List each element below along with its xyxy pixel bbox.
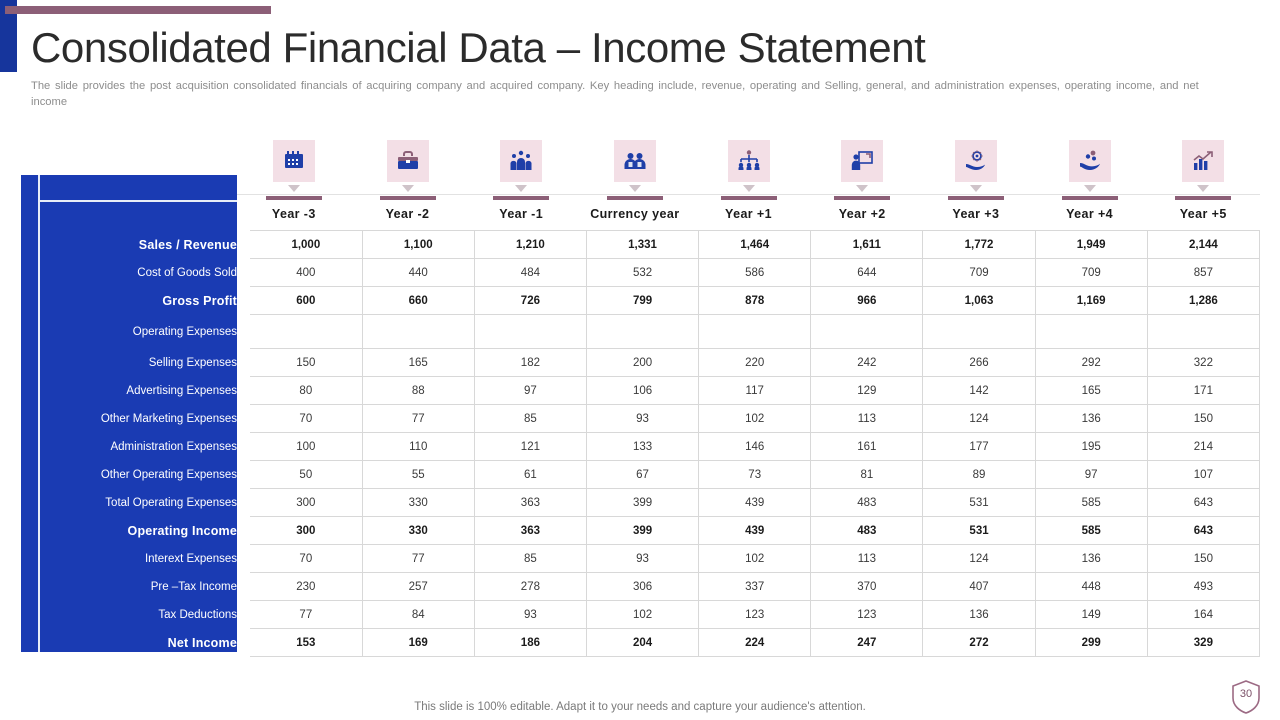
table-row: Advertising Expenses80889710611712914216…: [21, 377, 1260, 405]
column-tick-mark: [607, 196, 663, 200]
column-header-4[interactable]: Currency year: [578, 138, 692, 228]
chevron-down-icon: [1197, 185, 1209, 192]
team-group-icon: [500, 140, 542, 182]
column-tick-mark: [834, 196, 890, 200]
row-label: Other Marketing Expenses: [21, 405, 250, 433]
table-cell: 363: [474, 517, 586, 545]
row-label: Advertising Expenses: [21, 377, 250, 405]
table-cell: 153: [250, 629, 362, 657]
row-label: Interext Expenses: [21, 545, 250, 573]
column-header-label: Year +3: [952, 207, 999, 221]
table-cell: 337: [699, 573, 811, 601]
row-label: Net Income: [21, 629, 250, 657]
table-cell: 370: [811, 573, 923, 601]
column-tick-mark: [380, 196, 436, 200]
table-row: Operating Income300330363399439483531585…: [21, 517, 1260, 545]
row-label: Pre –Tax Income: [21, 573, 250, 601]
table-cell: 1,331: [586, 231, 698, 259]
chevron-down-icon: [1084, 185, 1096, 192]
table-cell: 169: [362, 629, 474, 657]
table-row: Pre –Tax Income2302572783063373704074484…: [21, 573, 1260, 601]
table-row: Gross Profit6006607267998789661,0631,169…: [21, 287, 1260, 315]
table-cell: 439: [699, 489, 811, 517]
table-cell: 102: [699, 405, 811, 433]
table-cell: 448: [1035, 573, 1147, 601]
table-cell: 106: [586, 377, 698, 405]
table-row: Administration Expenses10011012113314616…: [21, 433, 1260, 461]
table-cell: 224: [699, 629, 811, 657]
table-cell: 80: [250, 377, 362, 405]
table-cell: 85: [474, 545, 586, 573]
table-cell: 97: [474, 377, 586, 405]
table-cell: 531: [923, 517, 1035, 545]
table-cell: 220: [699, 349, 811, 377]
table-cell: 121: [474, 433, 586, 461]
table-cell: 1,464: [699, 231, 811, 259]
table-cell: 186: [474, 629, 586, 657]
table-cell: 363: [474, 489, 586, 517]
table-cell: 165: [1035, 377, 1147, 405]
table-cell: 123: [699, 601, 811, 629]
table-cell: 1,169: [1035, 287, 1147, 315]
column-header-label: Year -2: [386, 207, 430, 221]
column-tick-mark: [493, 196, 549, 200]
table-cell: [362, 315, 474, 349]
row-label: Gross Profit: [21, 287, 250, 315]
row-label: Sales / Revenue: [21, 231, 250, 259]
table-cell: 177: [923, 433, 1035, 461]
table-cell: 726: [474, 287, 586, 315]
column-tick-mark: [1062, 196, 1118, 200]
table-cell: 399: [586, 489, 698, 517]
row-label: Other Operating Expenses: [21, 461, 250, 489]
calendar-icon: [273, 140, 315, 182]
table-row: Other Operating Expenses5055616773818997…: [21, 461, 1260, 489]
table-cell: 440: [362, 259, 474, 287]
table-cell: 110: [362, 433, 474, 461]
table-cell: 586: [699, 259, 811, 287]
table-row: Net Income153169186204224247272299329: [21, 629, 1260, 657]
table-cell: 204: [586, 629, 698, 657]
table-cell: 77: [362, 405, 474, 433]
table-cell: 133: [586, 433, 698, 461]
table-cell: 878: [699, 287, 811, 315]
table-cell: 81: [811, 461, 923, 489]
table-cell: 709: [1035, 259, 1147, 287]
column-header-label: Year -3: [272, 207, 316, 221]
presenter-board-icon: [841, 140, 883, 182]
table-cell: 171: [1147, 377, 1259, 405]
table-row: Cost of Goods Sold4004404845325866447097…: [21, 259, 1260, 287]
table-cell: 585: [1035, 517, 1147, 545]
table-cell: 142: [923, 377, 1035, 405]
table-cell: 70: [250, 405, 362, 433]
chevron-down-icon: [743, 185, 755, 192]
table-cell: [699, 315, 811, 349]
table-cell: 966: [811, 287, 923, 315]
column-header-9[interactable]: Year +5: [1146, 138, 1260, 228]
row-label: Tax Deductions: [21, 601, 250, 629]
table-row: Selling Expenses150165182200220242266292…: [21, 349, 1260, 377]
column-header-1[interactable]: Year -3: [237, 138, 351, 228]
table-cell: 93: [586, 545, 698, 573]
table-cell: 660: [362, 287, 474, 315]
column-tick-mark: [721, 196, 777, 200]
table-row: Interext Expenses70778593102113124136150: [21, 545, 1260, 573]
hand-gear-icon: [955, 140, 997, 182]
table-cell: 214: [1147, 433, 1259, 461]
column-header-3[interactable]: Year -1: [464, 138, 578, 228]
table-cell: 55: [362, 461, 474, 489]
table-cell: 107: [1147, 461, 1259, 489]
table-cell: 123: [811, 601, 923, 629]
row-label: Cost of Goods Sold: [21, 259, 250, 287]
table-cell: 330: [362, 489, 474, 517]
table-row: Sales / Revenue1,0001,1001,2101,3311,464…: [21, 231, 1260, 259]
table-cell: 493: [1147, 573, 1259, 601]
table-cell: 257: [362, 573, 474, 601]
table-cell: 200: [586, 349, 698, 377]
chevron-down-icon: [288, 185, 300, 192]
column-header-label: Year -1: [499, 207, 543, 221]
table-cell: 93: [474, 601, 586, 629]
column-header-5[interactable]: Year +1: [692, 138, 806, 228]
chevron-down-icon: [515, 185, 527, 192]
table-cell: 709: [923, 259, 1035, 287]
table-cell: 278: [474, 573, 586, 601]
table-cell: 531: [923, 489, 1035, 517]
panel-horizontal-rule: [38, 200, 237, 202]
table-cell: 100: [250, 433, 362, 461]
table-row: Other Marketing Expenses7077859310211312…: [21, 405, 1260, 433]
table-cell: 300: [250, 517, 362, 545]
column-header-8[interactable]: Year +4: [1033, 138, 1147, 228]
row-label: Total Operating Expenses: [21, 489, 250, 517]
table-cell: 230: [250, 573, 362, 601]
column-header-label: Year +2: [839, 207, 886, 221]
column-header-2[interactable]: Year -2: [351, 138, 465, 228]
table-cell: 1,611: [811, 231, 923, 259]
table-cell: 85: [474, 405, 586, 433]
column-header-label: Year +4: [1066, 207, 1113, 221]
table-cell: [474, 315, 586, 349]
column-header-6[interactable]: Year +2: [805, 138, 919, 228]
table-cell: [923, 315, 1035, 349]
column-header-label: Year +5: [1180, 207, 1227, 221]
table-cell: 292: [1035, 349, 1147, 377]
table-cell: 67: [586, 461, 698, 489]
org-chart-icon: [728, 140, 770, 182]
income-statement-table-wrap: Sales / Revenue1,0001,1001,2101,3311,464…: [21, 230, 1260, 657]
table-cell: 146: [699, 433, 811, 461]
table-cell: 1,772: [923, 231, 1035, 259]
column-header-label: Year +1: [725, 207, 772, 221]
footer-note: This slide is 100% editable. Adapt it to…: [0, 701, 1280, 713]
column-header-7[interactable]: Year +3: [919, 138, 1033, 228]
table-cell: 124: [923, 405, 1035, 433]
table-cell: 149: [1035, 601, 1147, 629]
table-cell: 242: [811, 349, 923, 377]
page-number-badge: 30: [1230, 679, 1262, 715]
table-cell: [586, 315, 698, 349]
table-cell: 77: [250, 601, 362, 629]
table-cell: 439: [699, 517, 811, 545]
table-cell: 299: [1035, 629, 1147, 657]
table-cell: 2,144: [1147, 231, 1259, 259]
header-axis-line: [237, 194, 1260, 195]
column-header-strip: Year -3Year -2Year -1Currency yearYear +…: [237, 138, 1260, 228]
table-cell: 300: [250, 489, 362, 517]
briefcase-icon: [387, 140, 429, 182]
table-row: Tax Deductions778493102123123136149164: [21, 601, 1260, 629]
table-cell: 102: [699, 545, 811, 573]
table-cell: 484: [474, 259, 586, 287]
table-cell: 1,000: [250, 231, 362, 259]
chevron-down-icon: [402, 185, 414, 192]
table-cell: 61: [474, 461, 586, 489]
table-cell: 84: [362, 601, 474, 629]
table-cell: 113: [811, 545, 923, 573]
bar-chart-growth-icon: [1182, 140, 1224, 182]
page-title: Consolidated Financial Data – Income Sta…: [31, 24, 925, 72]
income-statement-table: Sales / Revenue1,0001,1001,2101,3311,464…: [21, 230, 1260, 657]
table-row: Total Operating Expenses3003303633994394…: [21, 489, 1260, 517]
table-cell: 272: [923, 629, 1035, 657]
table-cell: 643: [1147, 517, 1259, 545]
column-tick-mark: [1175, 196, 1231, 200]
table-cell: 600: [250, 287, 362, 315]
table-cell: 400: [250, 259, 362, 287]
table-cell: [250, 315, 362, 349]
table-cell: 124: [923, 545, 1035, 573]
table-cell: 113: [811, 405, 923, 433]
hand-coins-icon: [1069, 140, 1111, 182]
row-label: Administration Expenses: [21, 433, 250, 461]
column-tick-mark: [266, 196, 322, 200]
row-label: Selling Expenses: [21, 349, 250, 377]
table-cell: 483: [811, 517, 923, 545]
table-cell: 1,286: [1147, 287, 1259, 315]
table-cell: 585: [1035, 489, 1147, 517]
table-cell: 1,063: [923, 287, 1035, 315]
table-cell: 1,100: [362, 231, 474, 259]
table-cell: 399: [586, 517, 698, 545]
page-number-value: 30: [1230, 688, 1262, 700]
table-cell: 330: [362, 517, 474, 545]
table-cell: [1147, 315, 1259, 349]
table-row: Operating Expenses: [21, 315, 1260, 349]
table-cell: 150: [250, 349, 362, 377]
table-cell: 73: [699, 461, 811, 489]
table-cell: 136: [1035, 405, 1147, 433]
column-tick-mark: [948, 196, 1004, 200]
column-header-label: Currency year: [590, 207, 679, 221]
corner-accent-mauve-bar: [5, 6, 271, 14]
table-cell: 50: [250, 461, 362, 489]
table-cell: 532: [586, 259, 698, 287]
table-cell: [1035, 315, 1147, 349]
table-cell: 266: [923, 349, 1035, 377]
table-cell: 322: [1147, 349, 1259, 377]
table-cell: 97: [1035, 461, 1147, 489]
table-cell: 129: [811, 377, 923, 405]
table-cell: 88: [362, 377, 474, 405]
table-cell: 150: [1147, 405, 1259, 433]
table-cell: 150: [1147, 545, 1259, 573]
table-cell: 102: [586, 601, 698, 629]
row-label: Operating Expenses: [21, 315, 250, 349]
table-cell: 407: [923, 573, 1035, 601]
table-cell: 857: [1147, 259, 1259, 287]
table-cell: [811, 315, 923, 349]
table-cell: 165: [362, 349, 474, 377]
table-cell: 136: [923, 601, 1035, 629]
table-cell: 306: [586, 573, 698, 601]
table-cell: 77: [362, 545, 474, 573]
page-subtitle: The slide provides the post acquisition …: [31, 79, 1211, 110]
table-cell: 70: [250, 545, 362, 573]
table-cell: 117: [699, 377, 811, 405]
two-people-icon: [614, 140, 656, 182]
table-cell: 195: [1035, 433, 1147, 461]
table-cell: 136: [1035, 545, 1147, 573]
table-cell: 1,210: [474, 231, 586, 259]
chevron-down-icon: [970, 185, 982, 192]
table-cell: 483: [811, 489, 923, 517]
table-cell: 799: [586, 287, 698, 315]
table-cell: 93: [586, 405, 698, 433]
table-cell: 247: [811, 629, 923, 657]
table-cell: 182: [474, 349, 586, 377]
table-cell: 644: [811, 259, 923, 287]
table-cell: 1,949: [1035, 231, 1147, 259]
row-label: Operating Income: [21, 517, 250, 545]
chevron-down-icon: [629, 185, 641, 192]
table-cell: 329: [1147, 629, 1259, 657]
chevron-down-icon: [856, 185, 868, 192]
table-cell: 164: [1147, 601, 1259, 629]
table-cell: 89: [923, 461, 1035, 489]
table-cell: 643: [1147, 489, 1259, 517]
table-cell: 161: [811, 433, 923, 461]
